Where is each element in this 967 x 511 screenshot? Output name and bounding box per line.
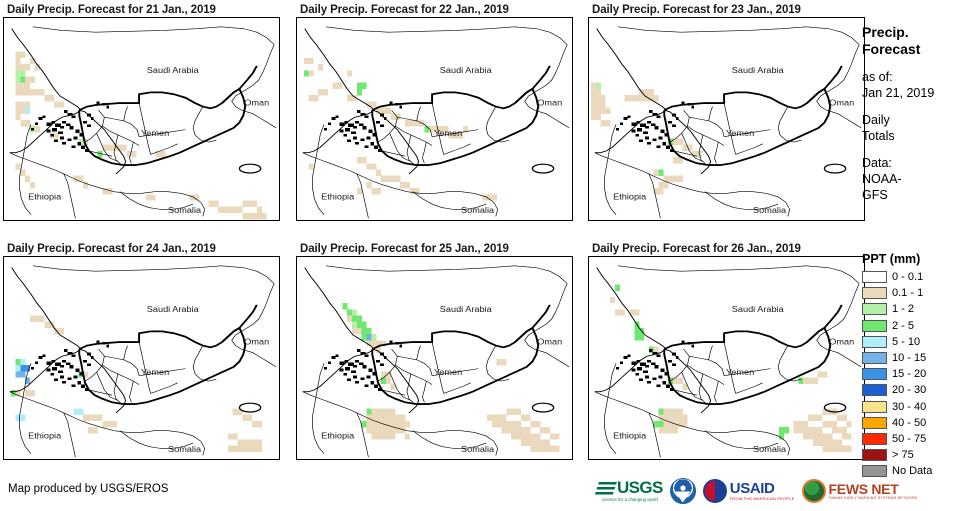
usgs-logo-text: USGS [617, 480, 663, 496]
map-canvas-4[interactable]: Saudi ArabiaOmanYemenEthiopiaSomalia [3, 256, 280, 460]
legend-item-6: 15 - 20 [862, 366, 967, 382]
legend-item-9: 40 - 50 [862, 415, 967, 431]
svg-text:Saudi Arabia: Saudi Arabia [440, 65, 492, 75]
legend-swatch-8 [862, 401, 887, 413]
legend-rows: 0 - 0.10.1 - 11 - 22 - 55 - 1010 - 1515 … [862, 269, 967, 479]
noaa-seal-icon [670, 478, 696, 504]
asof-label: as of: [862, 69, 967, 85]
map-canvas-6[interactable]: Saudi ArabiaOmanYemenEthiopiaSomalia [588, 256, 865, 460]
map-canvas-1[interactable]: Saudi ArabiaOmanYemenEthiopiaSomalia [3, 17, 280, 221]
panel-title-3: Daily Precip. Forecast for 23 Jan., 2019 [588, 3, 865, 17]
fews-tagline: FAMINE EARLY WARNING SYSTEMS NETWORK [829, 496, 918, 500]
svg-text:Somalia: Somalia [753, 205, 786, 215]
legend-item-8: 30 - 40 [862, 399, 967, 415]
legend-item-7: 20 - 30 [862, 382, 967, 398]
fews-net-logo: FEWS NET FAMINE EARLY WARNING SYSTEMS NE… [802, 476, 918, 506]
legend-swatch-10 [862, 433, 887, 445]
usaid-tagline: FROM THE AMERICAN PEOPLE [730, 496, 795, 501]
usaid-seal-icon [703, 479, 727, 503]
svg-text:Yemen: Yemen [434, 128, 462, 138]
legend-label-6: 15 - 20 [892, 368, 926, 380]
fews-logo-text: FEWS NET [829, 483, 918, 496]
forecast-panel-3: Daily Precip. Forecast for 23 Jan., 2019… [588, 3, 865, 221]
agency-logo-bar: USGS science for a changing world USAID … [597, 476, 917, 506]
legend-label-11: > 75 [892, 449, 914, 461]
legend-label-7: 20 - 30 [892, 384, 926, 396]
totals-line2: Totals [862, 128, 967, 144]
asof-date: Jan 21, 2019 [862, 85, 967, 101]
legend-item-1: 0.1 - 1 [862, 285, 967, 301]
forecast-panel-2: Daily Precip. Forecast for 22 Jan., 2019… [296, 3, 573, 221]
svg-text:Somalia: Somalia [461, 205, 494, 215]
legend-label-0: 0 - 0.1 [892, 271, 923, 283]
svg-text:Yemen: Yemen [726, 128, 754, 138]
svg-text:Yemen: Yemen [434, 367, 462, 377]
svg-text:Saudi Arabia: Saudi Arabia [732, 65, 784, 75]
legend-label-8: 30 - 40 [892, 401, 926, 413]
data-label: Data: [862, 155, 967, 171]
svg-text:Oman: Oman [829, 98, 854, 108]
legend-swatch-0 [862, 271, 887, 283]
legend-item-11: > 75 [862, 447, 967, 463]
map-canvas-5[interactable]: Saudi ArabiaOmanYemenEthiopiaSomalia [296, 256, 573, 460]
svg-text:Ethiopia: Ethiopia [613, 192, 646, 202]
legend-swatch-7 [862, 384, 887, 396]
usgs-logo: USGS science for a changing world [597, 476, 663, 506]
usaid-logo-text: USAID [730, 482, 795, 496]
legend-item-10: 50 - 75 [862, 431, 967, 447]
svg-text:Somalia: Somalia [168, 205, 201, 215]
svg-text:Ethiopia: Ethiopia [613, 431, 646, 441]
svg-text:Yemen: Yemen [141, 128, 169, 138]
svg-text:Saudi Arabia: Saudi Arabia [147, 65, 199, 75]
svg-text:Somalia: Somalia [461, 444, 494, 454]
info-title-line2: Forecast [862, 41, 967, 58]
panel-title-1: Daily Precip. Forecast for 21 Jan., 2019 [3, 3, 280, 17]
legend-item-5: 10 - 15 [862, 350, 967, 366]
usgs-tagline: science for a changing world [602, 497, 658, 502]
legend-swatch-6 [862, 368, 887, 380]
forecast-panel-6: Daily Precip. Forecast for 26 Jan., 2019… [588, 242, 865, 460]
usaid-logo: USAID FROM THE AMERICAN PEOPLE [703, 476, 795, 506]
svg-text:Oman: Oman [537, 337, 562, 347]
legend-item-4: 5 - 10 [862, 334, 967, 350]
svg-text:Somalia: Somalia [753, 444, 786, 454]
svg-text:Oman: Oman [244, 98, 269, 108]
map-canvas-2[interactable]: Saudi ArabiaOmanYemenEthiopiaSomalia [296, 17, 573, 221]
info-title-line1: Precip. [862, 24, 967, 41]
svg-text:Saudi Arabia: Saudi Arabia [732, 304, 784, 314]
noaa-logo [670, 476, 696, 506]
legend-label-2: 1 - 2 [892, 303, 914, 315]
svg-text:Ethiopia: Ethiopia [321, 431, 354, 441]
legend-label-1: 0.1 - 1 [892, 287, 923, 299]
legend-label-9: 40 - 50 [892, 417, 926, 429]
legend-swatch-11 [862, 449, 887, 461]
legend-item-0: 0 - 0.1 [862, 269, 967, 285]
svg-text:Saudi Arabia: Saudi Arabia [440, 304, 492, 314]
svg-text:Yemen: Yemen [726, 367, 754, 377]
legend-item-2: 1 - 2 [862, 301, 967, 317]
forecast-panel-4: Daily Precip. Forecast for 24 Jan., 2019… [3, 242, 280, 460]
legend-swatch-4 [862, 336, 887, 348]
forecast-panel-1: Daily Precip. Forecast for 21 Jan., 2019… [3, 3, 280, 221]
svg-text:Oman: Oman [244, 337, 269, 347]
svg-text:Ethiopia: Ethiopia [321, 192, 354, 202]
totals-line1: Daily [862, 112, 967, 128]
legend-swatch-9 [862, 417, 887, 429]
svg-text:Ethiopia: Ethiopia [28, 192, 61, 202]
data-source-line1: NOAA- [862, 171, 967, 187]
data-source-line2: GFS [862, 187, 967, 203]
svg-text:Oman: Oman [537, 98, 562, 108]
legend-swatch-3 [862, 320, 887, 332]
panel-title-4: Daily Precip. Forecast for 24 Jan., 2019 [3, 242, 280, 256]
legend-label-3: 2 - 5 [892, 320, 914, 332]
legend-swatch-1 [862, 287, 887, 299]
forecast-panel-5: Daily Precip. Forecast for 25 Jan., 2019… [296, 242, 573, 460]
svg-text:Saudi Arabia: Saudi Arabia [147, 304, 199, 314]
map-credit: Map produced by USGS/EROS [8, 483, 168, 495]
legend-label-10: 50 - 75 [892, 433, 926, 445]
legend-label-4: 5 - 10 [892, 336, 920, 348]
legend-swatch-5 [862, 352, 887, 364]
svg-text:Somalia: Somalia [168, 444, 201, 454]
legend-item-3: 2 - 5 [862, 318, 967, 334]
panel-title-2: Daily Precip. Forecast for 22 Jan., 2019 [296, 3, 573, 17]
legend-title: PPT (mm) [862, 252, 967, 266]
precipitation-legend: PPT (mm) 0 - 0.10.1 - 11 - 22 - 55 - 101… [862, 252, 967, 479]
fews-globe-icon [802, 479, 826, 503]
panel-title-6: Daily Precip. Forecast for 26 Jan., 2019 [588, 242, 865, 256]
usgs-wave-icon [595, 481, 618, 495]
legend-swatch-2 [862, 303, 887, 315]
map-canvas-3[interactable]: Saudi ArabiaOmanYemenEthiopiaSomalia [588, 17, 865, 221]
svg-text:Yemen: Yemen [141, 367, 169, 377]
legend-label-5: 10 - 15 [892, 352, 926, 364]
svg-text:Ethiopia: Ethiopia [28, 431, 61, 441]
svg-text:Oman: Oman [829, 337, 854, 347]
panel-title-5: Daily Precip. Forecast for 25 Jan., 2019 [296, 242, 573, 256]
